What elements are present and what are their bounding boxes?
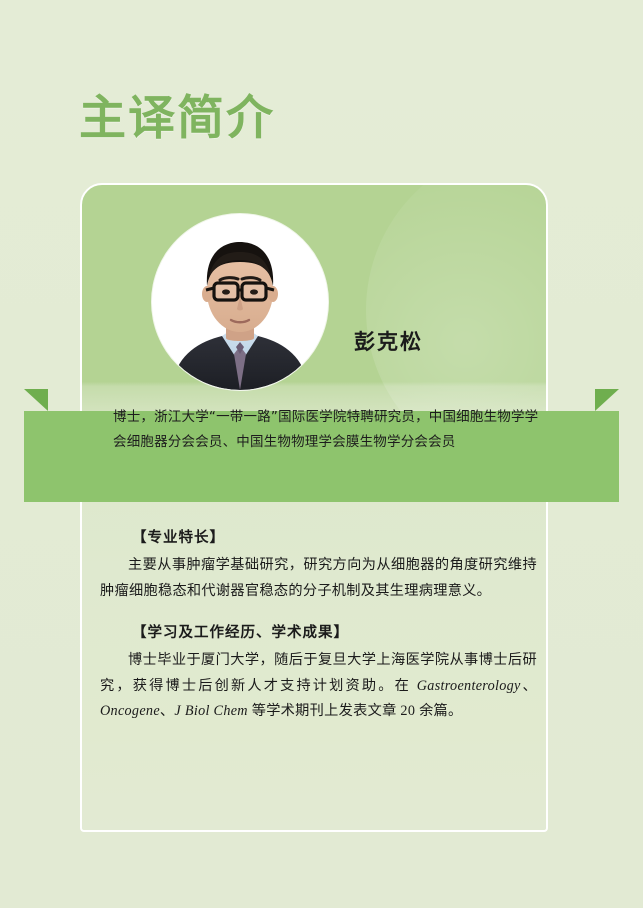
section-experience-body: 博士毕业于厦门大学，随后于复旦大学上海医学院从事博士后研究，获得博士后创新人才支… bbox=[100, 648, 537, 725]
section-specialty-heading: 【专业特长】 bbox=[132, 526, 537, 547]
page-title: 主译简介 bbox=[79, 92, 275, 146]
biography-sections: 【专业特长】 主要从事肿瘤学基础研究，研究方向为从细胞器的角度研究维持肿瘤细胞稳… bbox=[100, 526, 537, 742]
credentials-ribbon: 博士，浙江大学“一带一路”国际医学院特聘研究员，中国细胞生物学学会细胞器分会会员… bbox=[24, 389, 619, 502]
profile-name: 彭克松 bbox=[354, 326, 423, 356]
avatar bbox=[152, 214, 328, 390]
section-experience-heading: 【学习及工作经历、学术成果】 bbox=[132, 621, 537, 642]
section-specialty-body: 主要从事肿瘤学基础研究，研究方向为从细胞器的角度研究维持肿瘤细胞稳态和代谢器官稳… bbox=[100, 553, 537, 604]
journal-separator-1: 、 bbox=[521, 678, 537, 694]
portrait-photo bbox=[152, 214, 328, 390]
journal-name-oncogene: Oncogene bbox=[100, 703, 160, 719]
ribbon-fold-left-icon bbox=[24, 389, 48, 411]
credentials-text: 博士，浙江大学“一带一路”国际医学院特聘研究员，中国细胞生物学学会细胞器分会会员… bbox=[113, 405, 543, 455]
section-specialty: 【专业特长】 主要从事肿瘤学基础研究，研究方向为从细胞器的角度研究维持肿瘤细胞稳… bbox=[100, 526, 537, 604]
journal-separator-2: 、 bbox=[160, 703, 175, 719]
journal-name-gastroenterology: Gastroenterology bbox=[417, 678, 521, 694]
experience-text-part2: 等学术期刊上发表文章 20 余篇。 bbox=[248, 703, 463, 719]
journal-name-jbiolchem: J Biol Chem bbox=[174, 703, 247, 719]
ribbon-fold-right-icon bbox=[595, 389, 619, 411]
section-experience: 【学习及工作经历、学术成果】 博士毕业于厦门大学，随后于复旦大学上海医学院从事博… bbox=[100, 621, 537, 725]
page-background: 主译简介 bbox=[0, 0, 643, 908]
